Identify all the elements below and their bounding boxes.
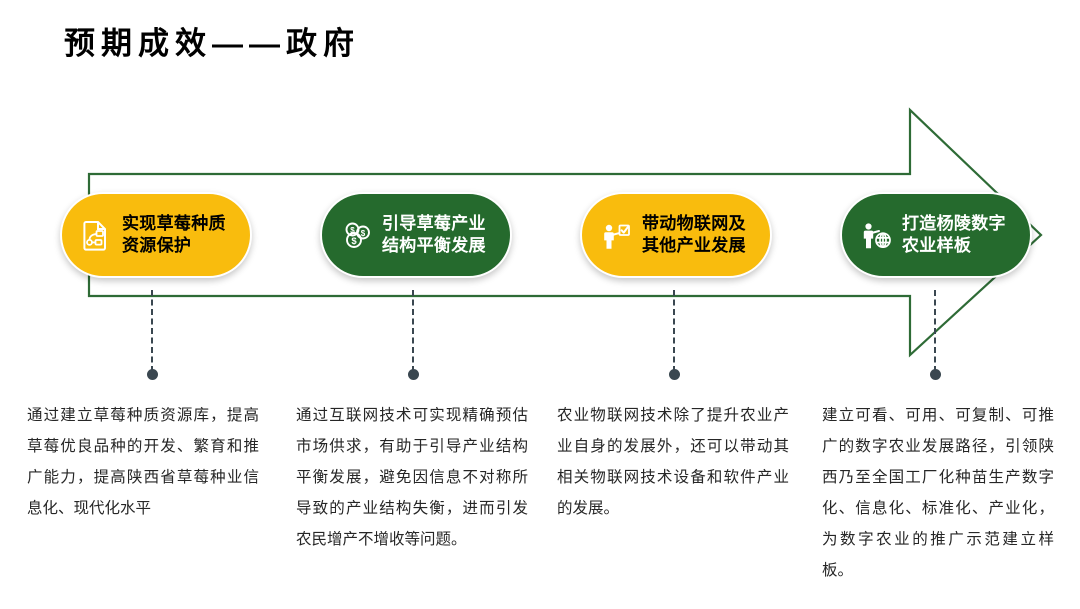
connector-dot-2 bbox=[408, 369, 419, 380]
connector-dot-3 bbox=[669, 369, 680, 380]
step-pill-3-label-line1: 带动物联网及 bbox=[642, 214, 746, 233]
step-description-2: 通过互联网技术可实现精确预估市场供求，有助于引导产业结构平衡发展，避免因信息不对… bbox=[296, 400, 528, 555]
connector-dot-4 bbox=[930, 369, 941, 380]
step-pill-4[interactable]: 打造杨陵数字 农业样板 bbox=[840, 192, 1032, 278]
document-network-icon bbox=[76, 215, 116, 255]
connector-line-3 bbox=[673, 290, 675, 372]
person-globe-icon bbox=[856, 215, 896, 255]
step-description-4: 建立可看、可用、可复制、可推广的数字农业发展路径，引领陕西乃至全国工厂化种苗生产… bbox=[822, 400, 1054, 586]
svg-text:$: $ bbox=[351, 236, 357, 247]
step-pill-3[interactable]: 带动物联网及 其他产业发展 bbox=[580, 192, 772, 278]
step-pill-4-label: 打造杨陵数字 农业样板 bbox=[902, 213, 1006, 257]
step-pill-3-label: 带动物联网及 其他产业发展 bbox=[642, 213, 746, 257]
step-pill-1[interactable]: 实现草莓种质 资源保护 bbox=[60, 192, 252, 278]
connector-line-2 bbox=[412, 290, 414, 372]
svg-text:$: $ bbox=[361, 229, 366, 238]
step-pill-1-label: 实现草莓种质 资源保护 bbox=[122, 213, 226, 257]
page-title: 预期成效——政府 bbox=[64, 18, 360, 63]
step-pill-1-label-line1: 实现草莓种质 bbox=[122, 214, 226, 233]
connector-line-4 bbox=[934, 290, 936, 372]
connector-line-1 bbox=[151, 290, 153, 372]
step-pill-3-label-line2: 其他产业发展 bbox=[642, 236, 746, 255]
svg-text:$: $ bbox=[350, 226, 355, 235]
step-pill-4-label-line2: 农业样板 bbox=[902, 236, 971, 255]
step-description-1: 通过建立草莓种质资源库，提高草莓优良品种的开发、繁育和推广能力，提高陕西省草莓种… bbox=[27, 400, 259, 524]
connector-dot-1 bbox=[147, 369, 158, 380]
step-pill-1-label-line2: 资源保护 bbox=[122, 236, 191, 255]
step-pill-2-label-line2: 结构平衡发展 bbox=[382, 236, 486, 255]
step-pill-2-label-line1: 引导草莓产业 bbox=[382, 214, 486, 233]
coins-icon: $ $ $ bbox=[336, 215, 376, 255]
step-pill-2-label: 引导草莓产业 结构平衡发展 bbox=[382, 213, 486, 257]
step-description-3: 农业物联网技术除了提升农业产业自身的发展外，还可以带动其相关物联网技术设备和软件… bbox=[557, 400, 789, 524]
step-pill-2[interactable]: $ $ $ 引导草莓产业 结构平衡发展 bbox=[320, 192, 512, 278]
person-checklist-icon bbox=[596, 215, 636, 255]
step-pill-4-label-line1: 打造杨陵数字 bbox=[902, 214, 1006, 233]
